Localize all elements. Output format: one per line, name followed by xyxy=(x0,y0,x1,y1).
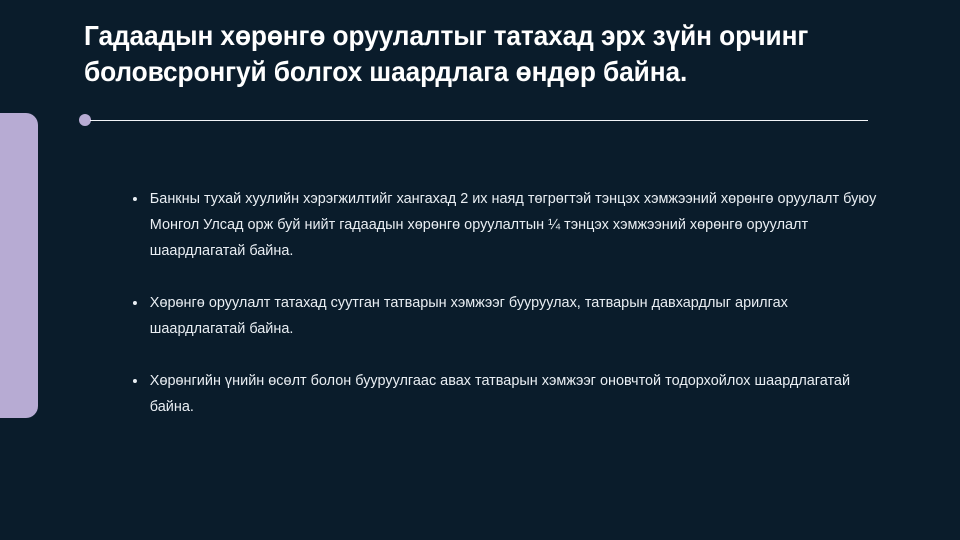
left-accent-bar xyxy=(0,113,38,418)
slide-canvas: Гадаадын хөрөнгө оруулалтыг татахад эрх … xyxy=(0,0,960,540)
list-item-text: Банкны тухай хуулийн хэрэгжилтийг хангах… xyxy=(150,186,884,264)
bullet-dot-icon xyxy=(133,301,137,305)
bullet-list: Банкны тухай хуулийн хэрэгжилтийг хангах… xyxy=(131,186,891,420)
list-item-text: Хөрөнгө оруулалт татахад суутган татвары… xyxy=(150,290,884,342)
title-block: Гадаадын хөрөнгө оруулалтыг татахад эрх … xyxy=(84,18,874,90)
list-item: Хөрөнгө оруулалт татахад суутган татвары… xyxy=(131,290,883,342)
title-divider xyxy=(79,114,868,127)
bullet-dot-icon xyxy=(133,379,137,383)
list-item: Хөрөнгийн үнийн өсөлт болон бууруулгаас … xyxy=(131,368,883,420)
list-item-text: Хөрөнгийн үнийн өсөлт болон бууруулгаас … xyxy=(150,368,884,420)
list-item: Банкны тухай хуулийн хэрэгжилтийг хангах… xyxy=(131,186,883,264)
body-block: Банкны тухай хуулийн хэрэгжилтийг хангах… xyxy=(131,186,891,420)
page-title: Гадаадын хөрөнгө оруулалтыг татахад эрх … xyxy=(84,18,838,90)
bullet-dot-icon xyxy=(133,197,137,201)
divider-line xyxy=(90,120,868,122)
